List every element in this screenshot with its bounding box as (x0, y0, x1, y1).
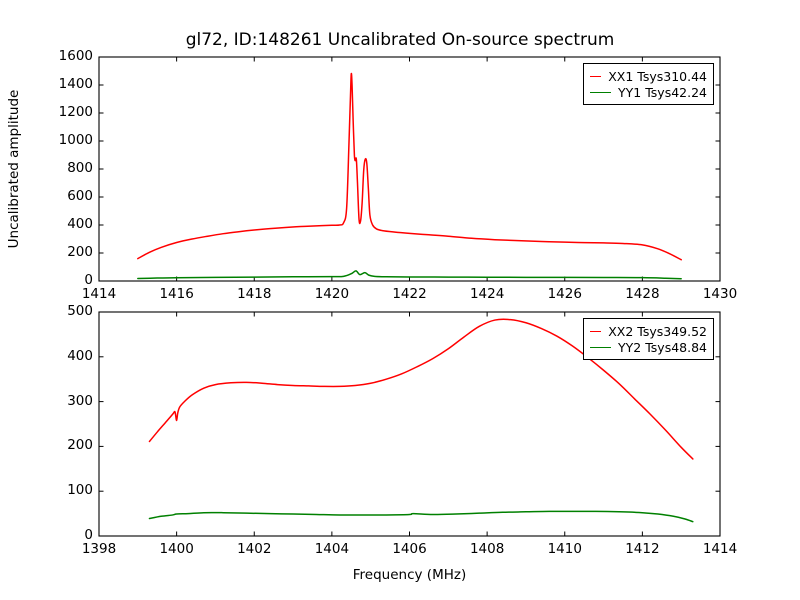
legend-swatch-yy1 (590, 92, 611, 93)
y-tick-label: 600 (27, 188, 93, 204)
legend-swatch-xx2 (590, 331, 601, 332)
legend-item[interactable]: XX1 Tsys310.44 (589, 68, 707, 84)
x-tick-label: 1398 (69, 541, 129, 557)
y-tick-label: 200 (27, 244, 93, 260)
x-tick-label: 1406 (380, 541, 440, 557)
legend-swatch-yy2 (590, 347, 611, 348)
series-line (138, 271, 681, 279)
figure-canvas: gl72, ID:148261 Uncalibrated On-source s… (0, 0, 800, 600)
y-tick-label: 300 (27, 393, 93, 409)
legend-item[interactable]: YY1 Tsys42.24 (589, 84, 707, 100)
legend-bottom-panel: XX2 Tsys349.52 YY2 Tsys48.84 (583, 318, 714, 360)
x-tick-label: 1422 (380, 286, 440, 302)
legend-label-yy2: YY2 Tsys48.84 (618, 340, 707, 355)
x-tick-label: 1424 (457, 286, 517, 302)
y-tick-label: 400 (27, 348, 93, 364)
y-tick-label: 0 (27, 272, 93, 288)
y-tick-label: 1200 (27, 104, 93, 120)
x-tick-label: 1420 (302, 286, 362, 302)
y-tick-label: 200 (27, 437, 93, 453)
y-tick-label: 500 (27, 303, 93, 319)
y-tick-label: 1400 (27, 76, 93, 92)
y-axis-label: Uncalibrated amplitude (6, 90, 22, 249)
x-tick-label: 1400 (147, 541, 207, 557)
y-tick-label: 0 (27, 527, 93, 543)
x-tick-label: 1414 (690, 541, 750, 557)
x-tick-label: 1418 (224, 286, 284, 302)
y-tick-label: 1000 (27, 132, 93, 148)
x-tick-label: 1404 (302, 541, 362, 557)
legend-label-xx1: XX1 Tsys310.44 (608, 69, 707, 84)
x-tick-label: 1414 (69, 286, 129, 302)
legend-top-panel: XX1 Tsys310.44 YY1 Tsys42.24 (583, 63, 714, 105)
y-tick-label: 800 (27, 160, 93, 176)
x-tick-label: 1430 (690, 286, 750, 302)
x-axis-label: Frequency (MHz) (99, 567, 720, 583)
y-tick-label: 1600 (27, 48, 93, 64)
legend-label-yy1: YY1 Tsys42.24 (618, 85, 707, 100)
legend-swatch-xx1 (590, 76, 601, 77)
legend-item[interactable]: XX2 Tsys349.52 (589, 323, 707, 339)
x-tick-label: 1428 (612, 286, 672, 302)
x-tick-label: 1402 (224, 541, 284, 557)
legend-item[interactable]: YY2 Tsys48.84 (589, 339, 707, 355)
x-tick-label: 1426 (535, 286, 595, 302)
x-tick-label: 1416 (147, 286, 207, 302)
x-tick-label: 1408 (457, 541, 517, 557)
series-line (149, 511, 692, 521)
legend-label-xx2: XX2 Tsys349.52 (608, 324, 707, 339)
y-tick-label: 400 (27, 216, 93, 232)
y-tick-label: 100 (27, 482, 93, 498)
x-tick-label: 1410 (535, 541, 595, 557)
x-tick-label: 1412 (612, 541, 672, 557)
